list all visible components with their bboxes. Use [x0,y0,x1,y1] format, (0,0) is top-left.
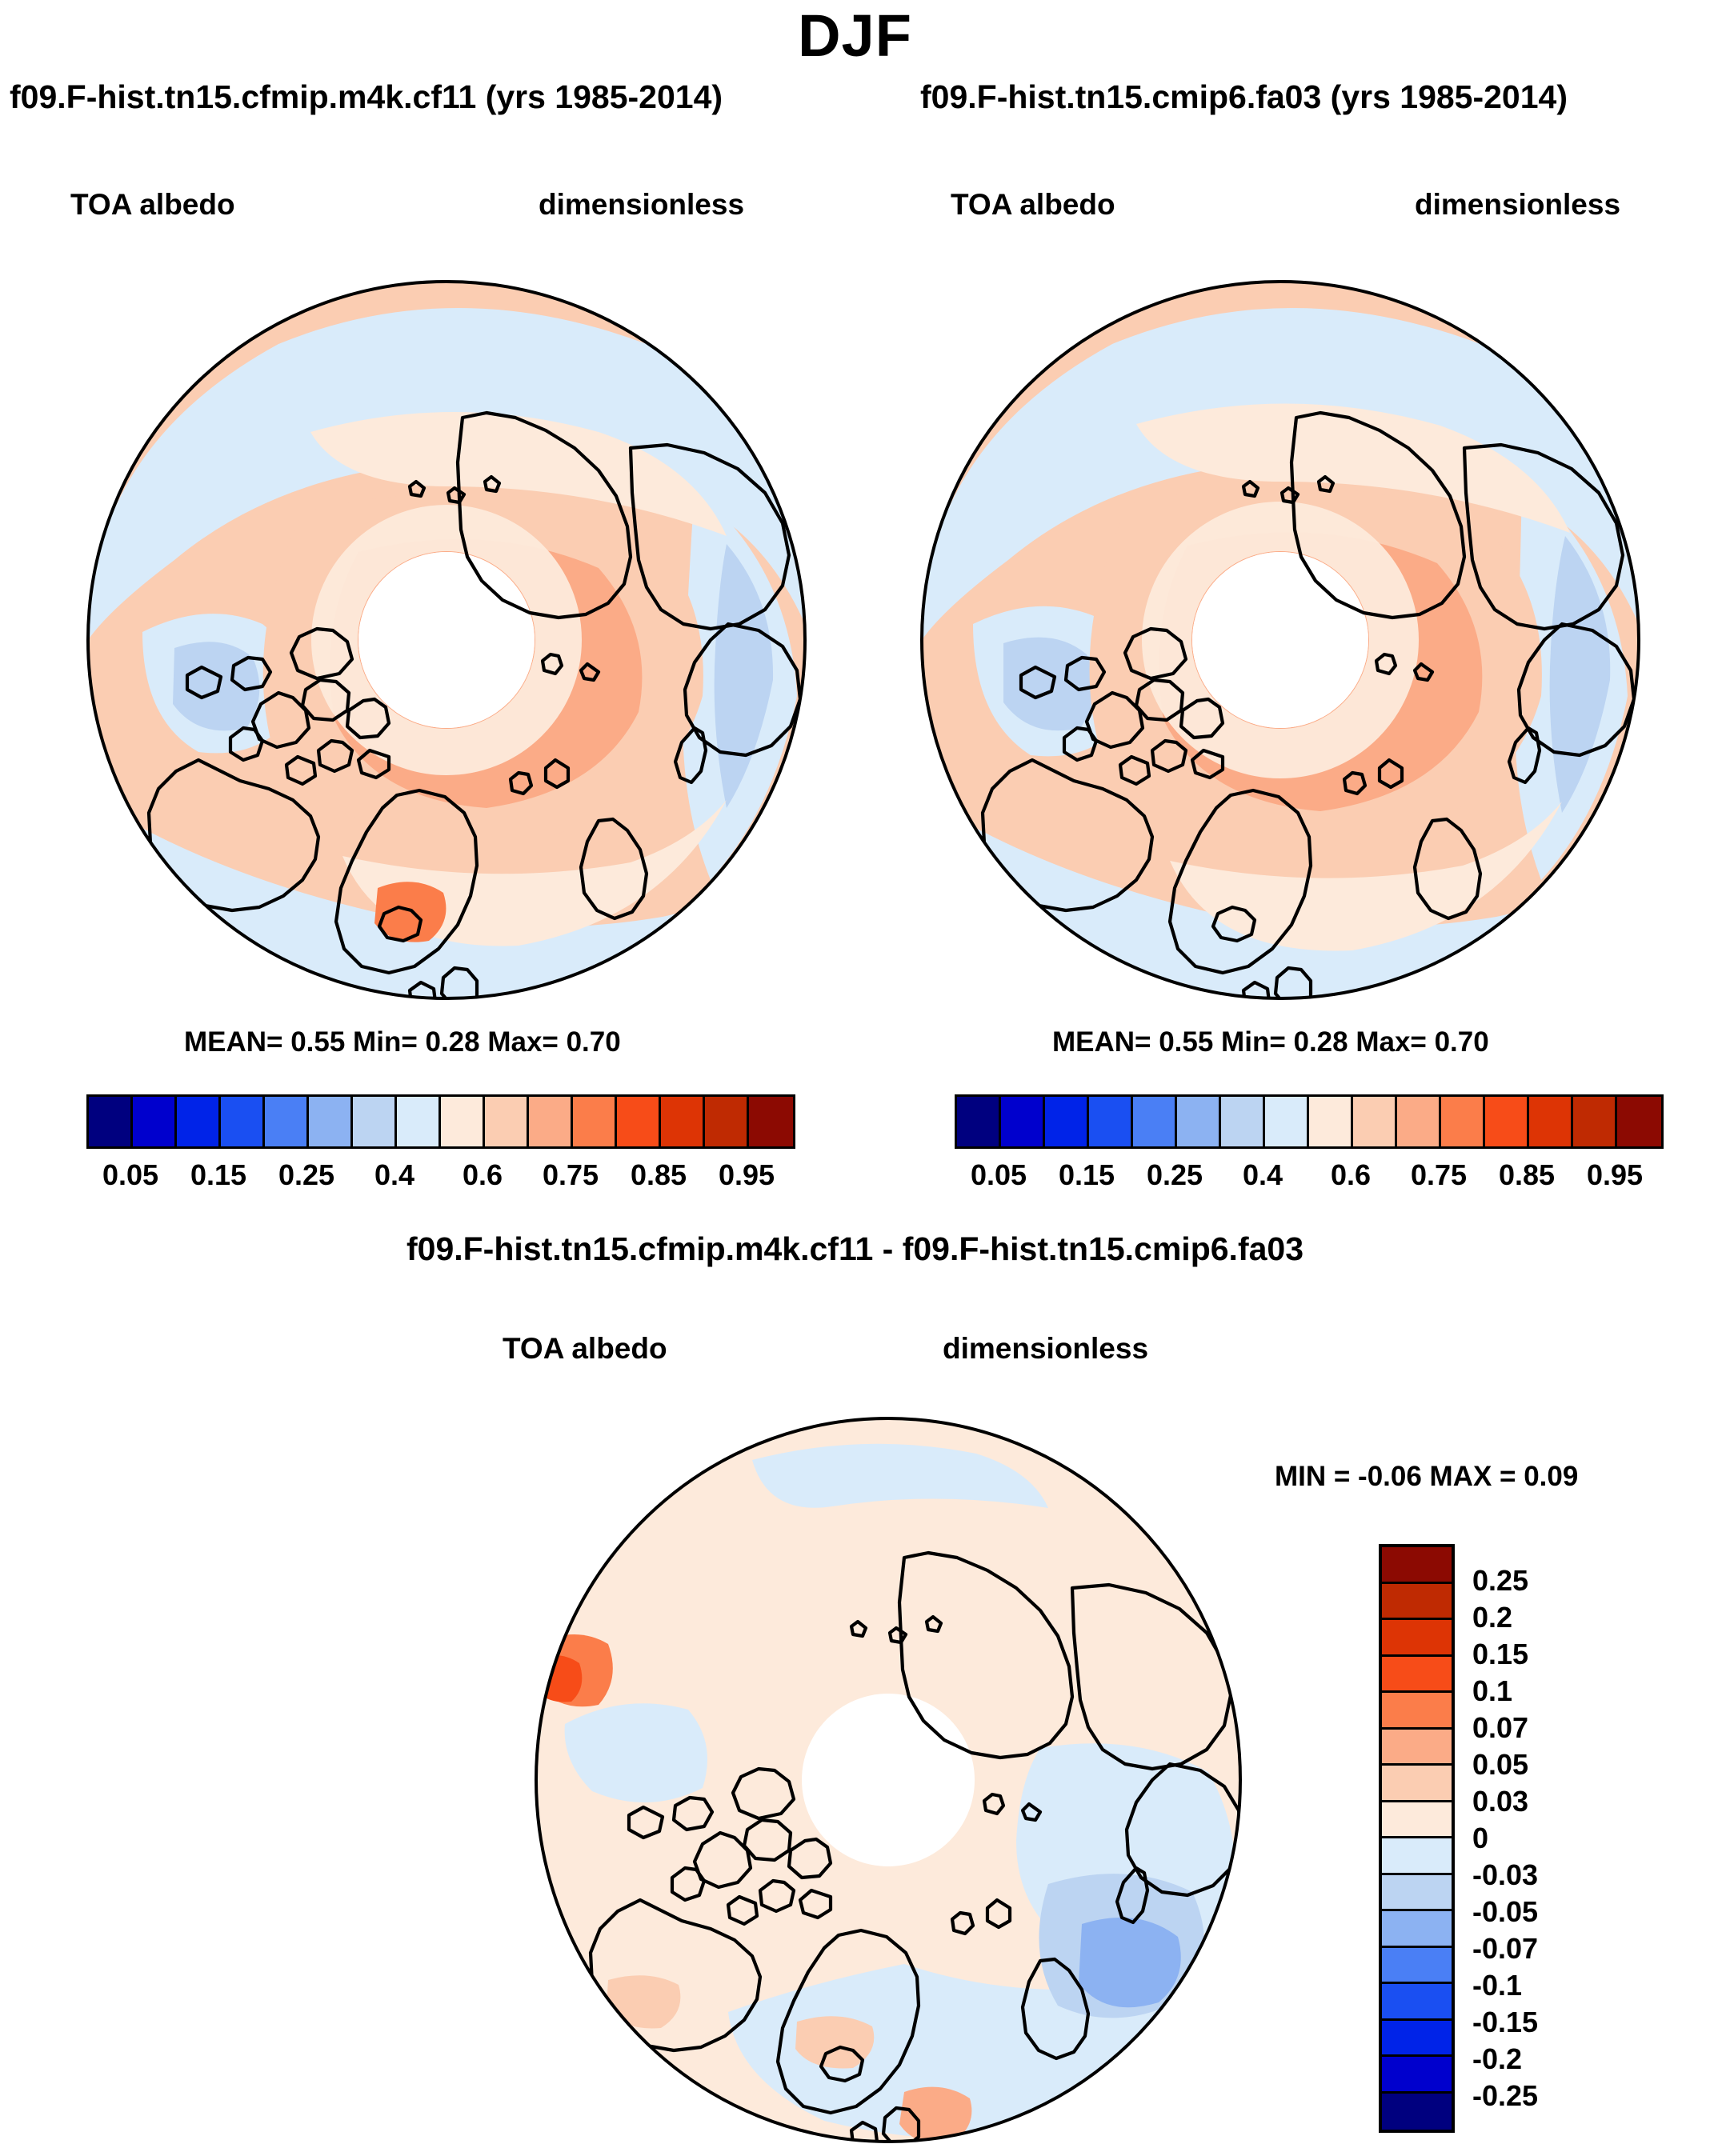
colorbar-cell [133,1097,177,1146]
colorbar-cell [221,1097,265,1146]
colorbar-tick-label: 0.15 [1059,1158,1115,1192]
colorbar-tick-label: 0.25 [278,1158,334,1192]
polar-map-difference [488,1404,1304,2156]
colorbar-cell [1045,1097,1089,1146]
colorbar-cell [1573,1097,1617,1146]
colorbar-cell [529,1097,573,1146]
colorbar-cell [1382,2021,1452,2058]
colorbar-tick-label: 0 [1472,1822,1488,1855]
colorbar-left [86,1094,795,1149]
colorbar-tick-label: -0.03 [1472,1858,1538,1892]
case-title-right: f09.F-hist.tn15.cmip6.fa03 (yrs 1985-201… [920,78,1568,116]
stats-difference: MIN = -0.06 MAX = 0.09 [1275,1461,1578,1493]
polar-map-right [872,248,1688,1032]
colorbar-tick-label: -0.1 [1472,1969,1522,2002]
colorbar-cell [1221,1097,1265,1146]
colorbar-cell [1382,1730,1452,1766]
colorbar-cell [89,1097,133,1146]
colorbar-tick-label: 0.15 [1472,1638,1528,1671]
colorbar-cell [1001,1097,1045,1146]
colorbar-tick-label: 0.15 [190,1158,246,1192]
colorbar-cell [1382,1802,1452,1839]
panel-units-label-diff: dimensionless [943,1332,1148,1366]
colorbar-cell [617,1097,661,1146]
colorbar-cell [1353,1097,1397,1146]
colorbar-cell [397,1097,441,1146]
colorbar-cell [1397,1097,1441,1146]
panel-units-label-right: dimensionless [1415,188,1620,222]
colorbar-tick-label: 0.25 [1472,1564,1528,1598]
colorbar-tick-label: 0.05 [1472,1748,1528,1782]
colorbar-cell [1485,1097,1529,1146]
colorbar-cell [1382,2094,1452,2130]
colorbar-tick-label: 0.75 [543,1158,599,1192]
colorbar-cell [1382,1875,1452,1912]
colorbar-cell [1382,1911,1452,1948]
colorbar-tick-label: 0.4 [374,1158,414,1192]
colorbar-tick-label: 0.95 [719,1158,775,1192]
colorbar-tick-label: 0.6 [1331,1158,1371,1192]
colorbar-tick-label: 0.85 [1499,1158,1555,1192]
season-title: DJF [0,2,1710,70]
colorbar-tick-label: 0.4 [1243,1158,1283,1192]
colorbar-cell [1089,1097,1133,1146]
colorbar-cell [353,1097,397,1146]
colorbar-tick-label: 0.25 [1147,1158,1203,1192]
colorbar-cell [1441,1097,1485,1146]
colorbar-cell [1177,1097,1221,1146]
colorbar-cell [1382,1547,1452,1584]
polar-map-left [38,248,855,1032]
colorbar-cell [1382,1766,1452,1802]
colorbar-tick-label: 0.75 [1411,1158,1467,1192]
colorbar-tick-label: -0.2 [1472,2042,1522,2076]
panel-units-label-left: dimensionless [539,188,744,222]
colorbar-tick-label: -0.07 [1472,1932,1538,1966]
colorbar-tick-label: -0.25 [1472,2079,1538,2113]
colorbar-left-labels: 0.050.150.250.40.60.750.850.95 [86,1158,791,1198]
colorbar-tick-label: 0.2 [1472,1601,1512,1634]
stats-right: MEAN= 0.55 Min= 0.28 Max= 0.70 [1052,1026,1489,1058]
colorbar-cell [1382,1948,1452,1985]
panel-variable-label-left: TOA albedo [70,188,235,222]
colorbar-cell [1382,1620,1452,1657]
panel-variable-label-right: TOA albedo [951,188,1115,222]
colorbar-cell [1382,2057,1452,2094]
colorbar-cell [1617,1097,1661,1146]
colorbar-difference-labels: 0.250.20.150.10.070.050.030-0.03-0.05-0.… [1472,1544,1680,2133]
colorbar-tick-label: -0.05 [1472,1895,1538,1929]
colorbar-cell [749,1097,793,1146]
colorbar-tick-label: 0.6 [463,1158,503,1192]
colorbar-cell [705,1097,749,1146]
colorbar-cell [1265,1097,1309,1146]
colorbar-tick-label: 0.95 [1587,1158,1643,1192]
case-title-left: f09.F-hist.tn15.cfmip.m4k.cf11 (yrs 1985… [10,78,723,116]
colorbar-tick-label: 0.07 [1472,1711,1528,1745]
colorbar-right-labels: 0.050.150.250.40.60.750.850.95 [955,1158,1659,1198]
stats-left: MEAN= 0.55 Min= 0.28 Max= 0.70 [184,1026,621,1058]
panel-variable-label-diff: TOA albedo [503,1332,667,1366]
colorbar-tick-label: -0.15 [1472,2006,1538,2039]
colorbar-cell [1133,1097,1177,1146]
colorbar-cell [1382,1693,1452,1730]
colorbar-tick-label: 0.1 [1472,1674,1512,1708]
colorbar-difference [1379,1544,1455,2133]
colorbar-tick-label: 0.85 [631,1158,687,1192]
colorbar-cell [1382,1657,1452,1694]
colorbar-right [955,1094,1664,1149]
colorbar-cell [661,1097,705,1146]
colorbar-cell [1382,1838,1452,1875]
difference-title: f09.F-hist.tn15.cfmip.m4k.cf11 - f09.F-h… [0,1230,1710,1268]
colorbar-tick-label: 0.03 [1472,1785,1528,1818]
colorbar-cell [309,1097,353,1146]
colorbar-cell [177,1097,221,1146]
colorbar-cell [1382,1984,1452,2021]
colorbar-cell [573,1097,617,1146]
colorbar-cell [485,1097,529,1146]
colorbar-cell [1382,1584,1452,1621]
colorbar-cell [957,1097,1001,1146]
colorbar-cell [265,1097,309,1146]
colorbar-cell [1529,1097,1573,1146]
colorbar-tick-label: 0.05 [102,1158,158,1192]
colorbar-cell [1309,1097,1353,1146]
colorbar-tick-label: 0.05 [971,1158,1027,1192]
colorbar-cell [441,1097,485,1146]
